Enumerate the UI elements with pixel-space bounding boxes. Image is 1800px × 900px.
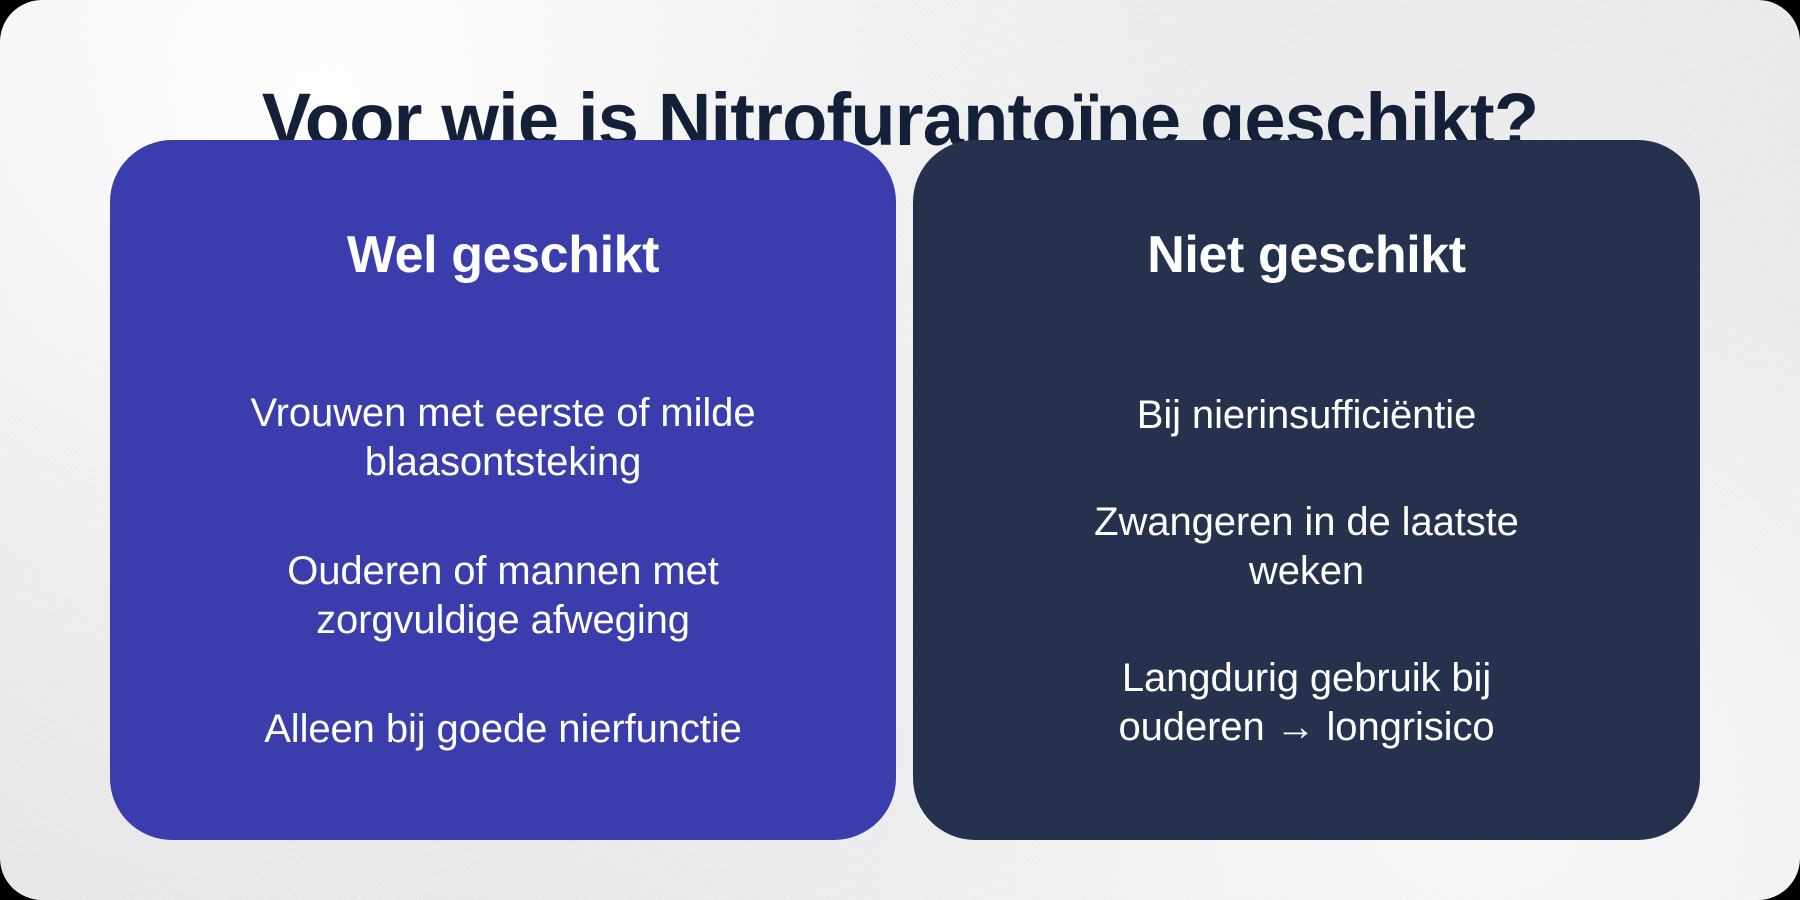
list-item: Vrouwen met eerste of milde blaasontstek…	[204, 389, 802, 487]
infographic-poster: Voor wie is Nitrofurantoïne geschikt? We…	[0, 0, 1800, 900]
card-title-wel-geschikt: Wel geschikt	[347, 221, 659, 289]
list-item: Bij nierinsufficiëntie	[1065, 391, 1548, 440]
list-item: Langdurig gebruik bij ouderen → longrisi…	[1065, 654, 1548, 752]
list-item: Zwangeren in de laatste weken	[1065, 498, 1548, 596]
card-title-niet-geschikt: Niet geschikt	[1147, 221, 1465, 289]
card-niet-geschikt: Niet geschikt Bij nierinsufficiëntie Zwa…	[913, 140, 1700, 840]
list-item: Ouderen of mannen met zorgvuldige afwegi…	[204, 547, 802, 645]
suitable-list: Vrouwen met eerste of milde blaasontstek…	[152, 332, 854, 810]
not-suitable-list: Bij nierinsufficiëntie Zwangeren in de l…	[955, 332, 1658, 810]
list-item: Alleen bij goede nierfunctie	[204, 705, 802, 754]
card-wel-geschikt: Wel geschikt Vrouwen met eerste of milde…	[110, 140, 896, 840]
